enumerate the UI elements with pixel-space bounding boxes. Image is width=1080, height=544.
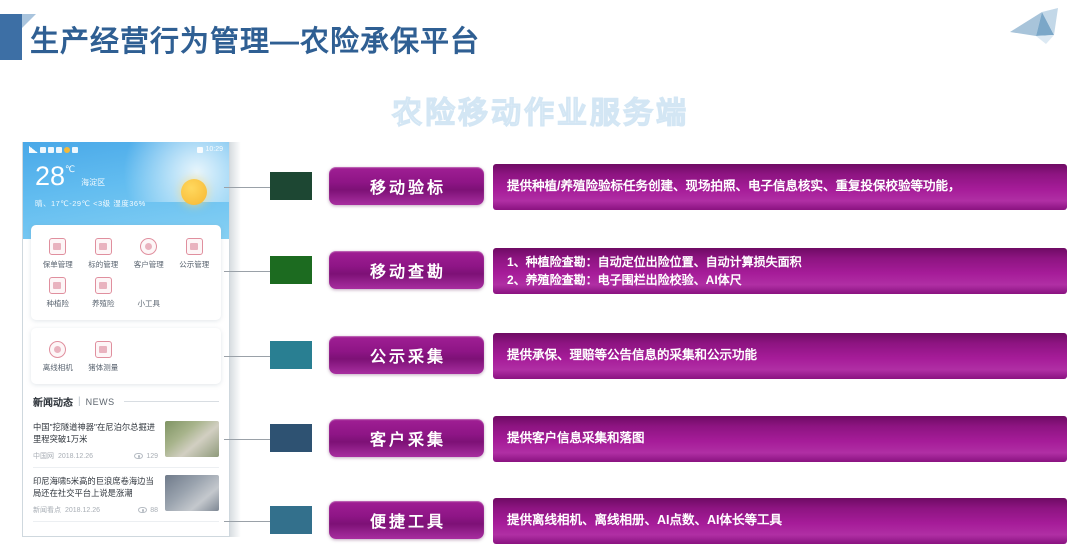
feature-description-publicity-collection: 提供承保、理赔等公告信息的采集和公示功能	[493, 333, 1067, 379]
connector-line	[224, 356, 270, 357]
temperature-unit: ℃	[65, 164, 75, 175]
news-thumbnail	[165, 475, 219, 511]
app-grid-row-2: 种植险 养殖险 小工具	[35, 273, 217, 312]
app-item-subject[interactable]: 标的管理	[81, 234, 127, 273]
news-list-item[interactable]: 中国"挖隧道神器"在尼泊尔总掘进里程突破1万米 中国网 2018.12.26 1…	[33, 414, 219, 468]
connector-line	[224, 271, 270, 272]
app-icon	[48, 147, 54, 153]
feature-pill-publicity-collection[interactable]: 公示采集	[329, 336, 484, 374]
connector-line	[224, 439, 270, 440]
news-heading-separator: |	[78, 396, 81, 407]
app-item-crop-insurance[interactable]: 种植险	[35, 273, 81, 312]
feature-row-mobile-survey: 移动查勘 1、种植险查勘：自动定位出险位置、自动计算损失面积 2、养殖险查勘：电…	[240, 248, 1080, 294]
phone-mockup: 10:29 28 ℃ 海淀区 晴、17℃-29℃ <3级 湿度36% 保单管理 …	[22, 142, 230, 537]
feature-pill-customer-collection[interactable]: 客户采集	[329, 419, 484, 457]
news-views: 129	[134, 453, 158, 460]
signal-icon	[29, 146, 38, 153]
status-bar-time: 10:29	[205, 146, 223, 153]
color-chip	[270, 424, 312, 452]
livestock-insurance-icon	[95, 277, 112, 294]
tools-spacer-2	[172, 337, 218, 376]
crop-insurance-icon	[49, 277, 66, 294]
app-label: 公示管理	[172, 259, 218, 270]
tool-item-pig-measure[interactable]: 猪体测量	[81, 337, 127, 376]
color-chip	[270, 506, 312, 534]
news-date: 2018.12.26	[58, 453, 93, 460]
app-label: 保单管理	[35, 259, 81, 270]
app-label: 标的管理	[81, 259, 127, 270]
app-label: 客户管理	[126, 259, 172, 270]
feature-description-mobile-survey: 1、种植险查勘：自动定位出险位置、自动计算损失面积 2、养殖险查勘：电子围栏出险…	[493, 248, 1067, 294]
app-grid-spacer	[172, 273, 218, 312]
message-icon	[72, 147, 78, 153]
news-title: 印尼海啸5米高的巨浪席卷海边当局还在社交平台上说是涨潮	[33, 475, 158, 499]
news-view-count: 129	[146, 453, 158, 460]
eye-icon	[134, 453, 143, 459]
corner-decoration-icon	[1002, 2, 1072, 50]
news-meta: 新闻看点 2018.12.26 88	[33, 505, 158, 515]
description-line: 提供种植/养殖险验标任务创建、现场拍照、电子信息核实、重复投保校验等功能，	[507, 177, 1053, 196]
weather-location: 海淀区	[81, 177, 105, 188]
pill-label: 公示采集	[367, 343, 446, 367]
temperature-row: 28 ℃ 海淀区	[23, 157, 229, 190]
feature-row-customer-collection: 客户采集 提供客户信息采集和落图	[240, 416, 1080, 462]
news-thumbnail	[165, 421, 219, 457]
tool-label: 离线相机	[35, 362, 81, 373]
color-chip	[270, 341, 312, 369]
description-line: 提供客户信息采集和落图	[507, 429, 1053, 448]
page-title: 生产经营行为管理—农险承保平台	[30, 18, 480, 60]
feature-description-customer-collection: 提供客户信息采集和落图	[493, 416, 1067, 462]
policy-icon	[49, 238, 66, 255]
feature-row-convenient-tools: 便捷工具 提供离线相机、离线相册、AI点数、AI体长等工具	[240, 498, 1080, 544]
news-section: 新闻动态 | NEWS 中国"挖隧道神器"在尼泊尔总掘进里程突破1万米 中国网 …	[23, 384, 229, 522]
news-heading-cn: 新闻动态	[33, 394, 73, 409]
battery-icon	[197, 147, 203, 153]
news-list-item[interactable]: 印尼海啸5米高的巨浪席卷海边当局还在社交平台上说是涨潮 新闻看点 2018.12…	[33, 468, 219, 522]
connector-line	[224, 187, 270, 188]
feature-row-publicity-collection: 公示采集 提供承保、理赔等公告信息的采集和公示功能	[240, 333, 1080, 379]
app-item-publicity[interactable]: 公示管理	[172, 234, 218, 273]
app-label: 养殖险	[81, 298, 127, 309]
customer-icon	[140, 238, 157, 255]
news-title: 中国"挖隧道神器"在尼泊尔总掘进里程突破1万米	[33, 421, 158, 445]
news-heading-rule	[124, 401, 219, 402]
temperature-value: 28	[35, 163, 65, 190]
watermark-subtitle: 农险移动作业服务端	[392, 88, 689, 132]
notification-icon	[64, 147, 70, 153]
offline-camera-icon	[49, 341, 66, 358]
news-heading-en: NEWS	[86, 397, 115, 407]
eye-icon	[138, 507, 147, 513]
feature-description-convenient-tools: 提供离线相机、离线相册、AI点数、AI体长等工具	[493, 498, 1067, 544]
description-line: 2、养殖险查勘：电子围栏出险校验、AI体尺	[507, 271, 1053, 289]
title-accent-bar	[0, 14, 22, 60]
tool-label: 猪体测量	[81, 362, 127, 373]
news-date: 2018.12.26	[65, 507, 100, 514]
connector-line	[224, 521, 270, 522]
feature-pill-mobile-survey[interactable]: 移动查勘	[329, 251, 484, 289]
news-meta: 中国网 2018.12.26 129	[33, 451, 158, 461]
feature-row-mobile-verification: 移动验标 提供种植/养殖险验标任务创建、现场拍照、电子信息核实、重复投保校验等功…	[240, 164, 1080, 210]
pill-label: 客户采集	[367, 426, 446, 450]
publicity-icon	[186, 238, 203, 255]
app-label: 小工具	[126, 298, 172, 309]
pill-label: 移动查勘	[367, 258, 446, 282]
pill-label: 移动验标	[367, 174, 446, 198]
description-line: 提供承保、理赔等公告信息的采集和公示功能	[507, 346, 1053, 365]
news-source: 新闻看点	[33, 505, 61, 515]
app-item-policy[interactable]: 保单管理	[35, 234, 81, 273]
news-source: 中国网	[33, 451, 54, 461]
feature-description-mobile-verification: 提供种植/养殖险验标任务创建、现场拍照、电子信息核实、重复投保校验等功能，	[493, 164, 1067, 210]
description-line: 提供离线相机、离线相册、AI点数、AI体长等工具	[507, 511, 1053, 530]
tools-spacer-1	[126, 337, 172, 376]
weather-detail: 晴、17℃-29℃ <3级 湿度36%	[23, 190, 229, 209]
color-chip	[270, 172, 312, 200]
tools-card: 离线相机 猪体测量	[31, 328, 221, 384]
pill-label: 便捷工具	[367, 508, 446, 532]
app-item-customer[interactable]: 客户管理	[126, 234, 172, 273]
news-view-count: 88	[150, 507, 158, 514]
app-label: 种植险	[35, 298, 81, 309]
news-heading: 新闻动态 | NEWS	[33, 394, 219, 414]
news-views: 88	[138, 507, 158, 514]
wifi-icon	[40, 147, 46, 153]
description-line: 1、种植险查勘：自动定位出险位置、自动计算损失面积	[507, 253, 1053, 271]
feature-pill-convenient-tools[interactable]: 便捷工具	[329, 501, 484, 539]
tool-item-offline-camera[interactable]: 离线相机	[35, 337, 81, 376]
search-icon	[56, 147, 62, 153]
app-grid-row-1: 保单管理 标的管理 客户管理 公示管理	[35, 234, 217, 273]
app-grid-card: 保单管理 标的管理 客户管理 公示管理 种植险 养殖险	[31, 225, 221, 320]
pig-measure-icon	[95, 341, 112, 358]
app-item-tools[interactable]: 小工具	[126, 273, 172, 312]
tools-row: 离线相机 猪体测量	[35, 337, 217, 376]
subject-icon	[95, 238, 112, 255]
color-chip	[270, 256, 312, 284]
app-item-livestock-insurance[interactable]: 养殖险	[81, 273, 127, 312]
feature-pill-mobile-verification[interactable]: 移动验标	[329, 167, 484, 205]
phone-status-bar: 10:29	[23, 142, 229, 157]
